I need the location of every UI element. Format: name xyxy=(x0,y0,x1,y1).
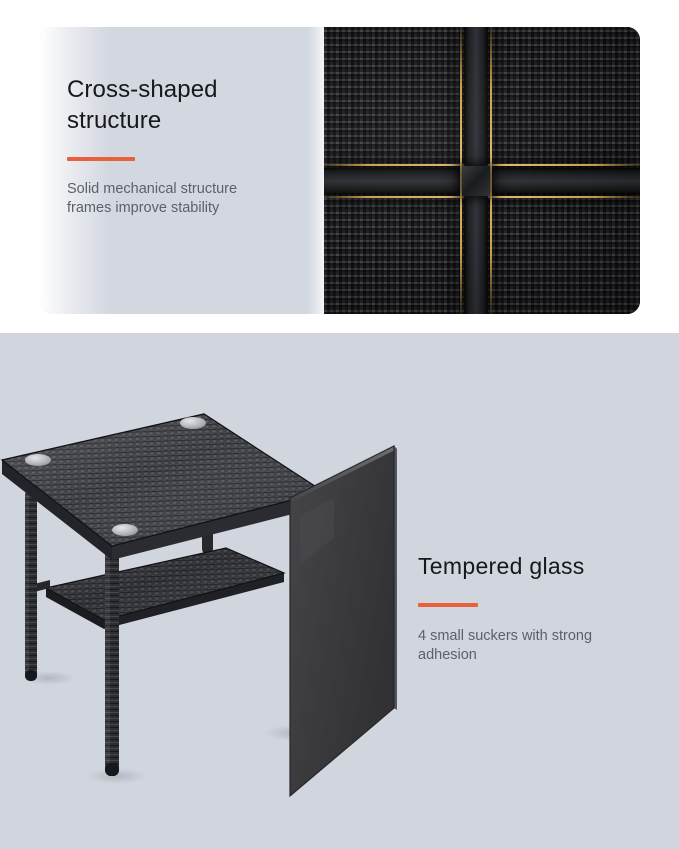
product-photo-cross-structure xyxy=(324,27,640,314)
sucker-2 xyxy=(180,417,206,429)
feature-text-panel-top: Cross-shaped structure Solid mechanical … xyxy=(40,27,324,314)
feature-card-cross-structure: Cross-shaped structure Solid mechanical … xyxy=(40,27,640,314)
feature-text-block-top: Cross-shaped structure Solid mechanical … xyxy=(67,74,307,218)
sucker-4 xyxy=(112,524,138,536)
feature-subtitle-cross-structure: Solid mechanical structure frames improv… xyxy=(67,180,307,218)
side-table-illustration xyxy=(0,388,434,848)
feature-subtitle-tempered-glass: 4 small suckers with strong adhesion xyxy=(418,627,653,665)
feature-heading-tempered-glass: Tempered glass xyxy=(418,551,653,582)
feature-text-block-bottom: Tempered glass 4 small suckers with stro… xyxy=(418,551,653,665)
sucker-1 xyxy=(25,454,51,466)
product-photo-side-table xyxy=(0,388,434,848)
table-top-surface xyxy=(2,414,324,560)
table-leg-front-left xyxy=(25,490,37,681)
cross-frame-center-knot xyxy=(462,166,490,196)
accent-rule-top xyxy=(67,157,135,161)
feature-section-tempered-glass: Tempered glass 4 small suckers with stro… xyxy=(0,333,679,849)
accent-rule-bottom xyxy=(418,603,478,607)
table-lower-shelf xyxy=(46,548,284,629)
table-leg-front-center xyxy=(105,536,119,776)
feature-heading-cross-structure: Cross-shaped structure xyxy=(67,74,307,136)
tempered-glass-panel xyxy=(290,446,397,796)
